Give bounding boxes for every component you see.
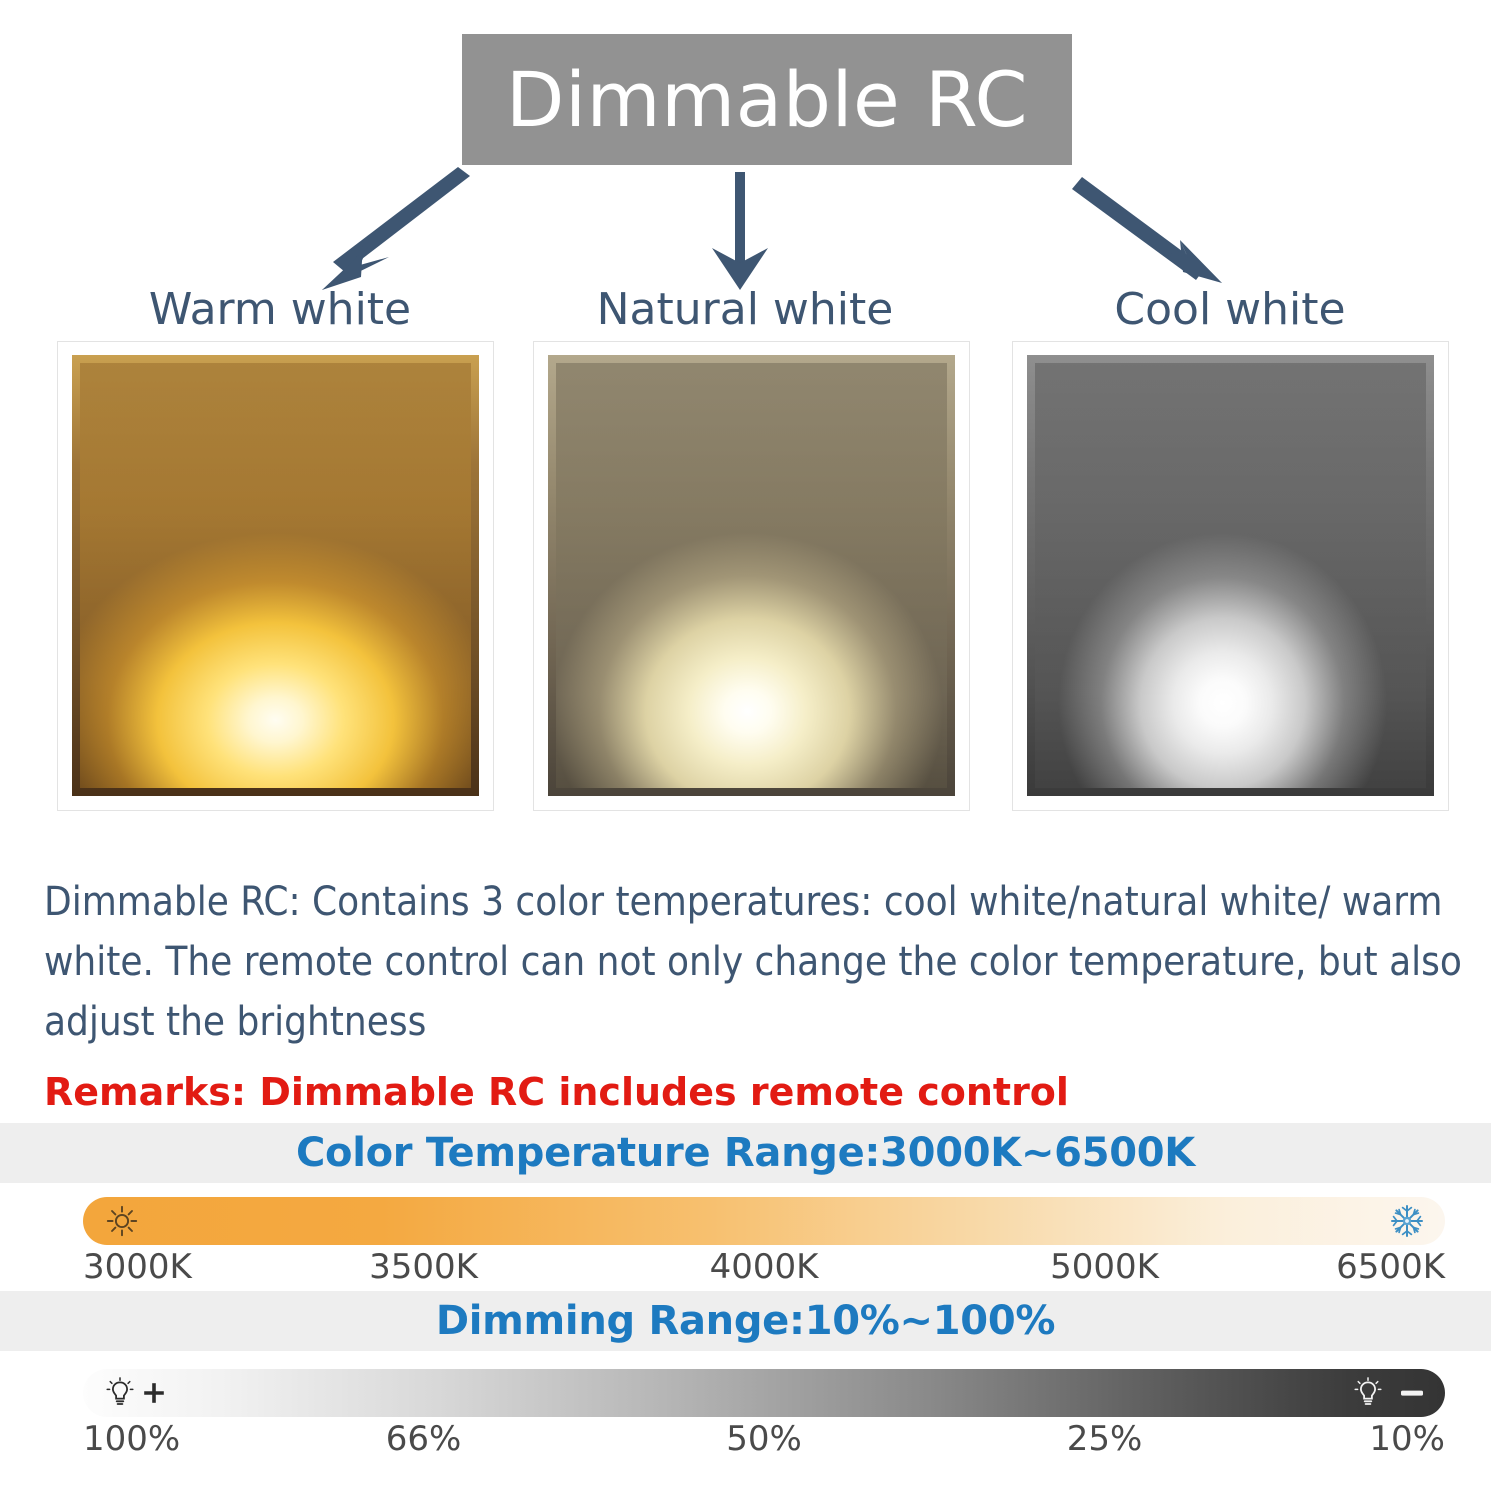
light-panel-natural-white (533, 341, 970, 811)
product-description: Dimmable RC: Contains 3 color temperatur… (44, 872, 1474, 1052)
panel-label-warm-white: Warm white (120, 286, 440, 334)
page-title: Dimmable RC (506, 62, 1028, 138)
tick-label: 10% (1369, 1419, 1445, 1459)
arrow-to-warm-white (322, 167, 470, 290)
dimming-range-tick-labels: 100% 66% 50% 25% 10% (83, 1419, 1445, 1463)
bulb-plus-icon (105, 1377, 135, 1409)
sun-icon (105, 1204, 139, 1238)
section-title-color-temperature: Color Temperature Range:3000K~6500K (296, 1130, 1195, 1176)
remarks-text: Remarks: Dimmable RC includes remote con… (44, 1067, 1344, 1117)
snowflake-icon (1389, 1203, 1425, 1239)
color-temperature-tick-labels: 3000K 3500K 4000K 5000K 6500K (83, 1247, 1445, 1291)
panel-glow (80, 363, 471, 788)
minus-icon (1399, 1386, 1425, 1400)
title-banner: Dimmable RC (462, 34, 1072, 165)
panel-image-natural (548, 355, 955, 796)
tick-label: 100% (83, 1419, 180, 1459)
panel-glow (1035, 363, 1426, 788)
tick-label: 5000K (1050, 1247, 1159, 1287)
panel-label-natural-white: Natural white (585, 286, 905, 334)
tick-label: 6500K (1336, 1247, 1445, 1287)
color-temperature-gradient-bar[interactable] (83, 1197, 1445, 1245)
dimming-range-slider[interactable] (83, 1369, 1445, 1417)
tick-label: 66% (386, 1419, 462, 1459)
panel-label-cool-white: Cool white (1070, 286, 1390, 334)
bulb-minus-bulb-icon (1353, 1377, 1383, 1409)
tick-label: 50% (726, 1419, 802, 1459)
dimming-gradient-bar[interactable] (83, 1369, 1445, 1417)
color-temperature-slider[interactable] (83, 1197, 1445, 1245)
panel-image-warm (72, 355, 479, 796)
plus-icon (141, 1380, 167, 1406)
tick-label: 3500K (369, 1247, 478, 1287)
section-band-color-temperature: Color Temperature Range:3000K~6500K (0, 1123, 1491, 1183)
panel-image-cool (1027, 355, 1434, 796)
light-panel-cool-white (1012, 341, 1449, 811)
tick-label: 3000K (83, 1247, 192, 1287)
tick-label: 25% (1067, 1419, 1143, 1459)
section-title-dimming-range: Dimming Range:10%~100% (436, 1298, 1055, 1344)
tick-label: 4000K (710, 1247, 819, 1287)
panel-glow (556, 363, 947, 788)
arrow-to-natural-white (712, 172, 768, 290)
arrow-to-cool-white (1072, 177, 1222, 283)
light-panel-warm-white (57, 341, 494, 811)
section-band-dimming-range: Dimming Range:10%~100% (0, 1291, 1491, 1351)
